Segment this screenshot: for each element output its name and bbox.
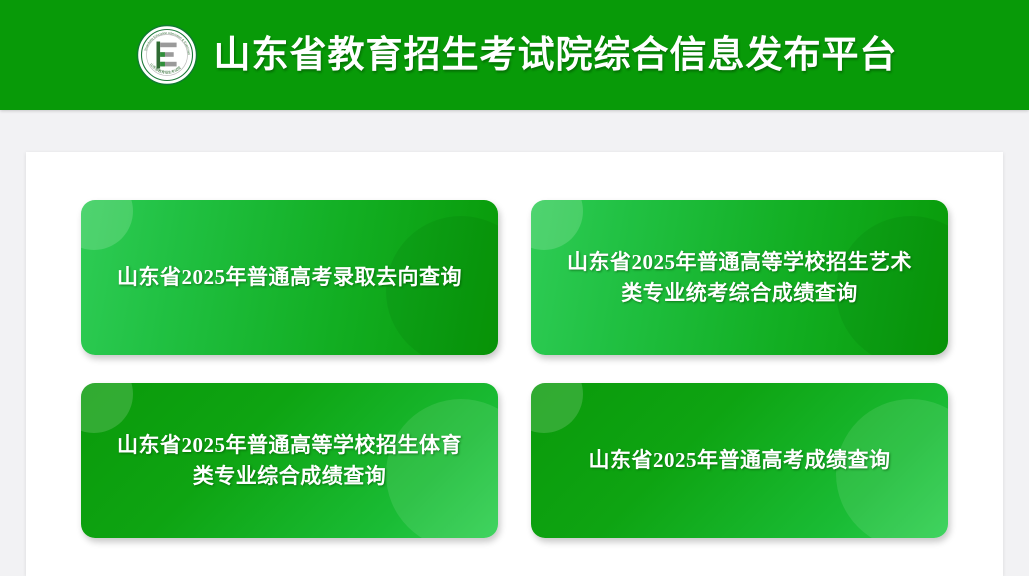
page-title: 山东省教育招生考试院综合信息发布平台 bbox=[214, 37, 898, 74]
service-card-grid: 山东省2025年普通高考录取去向查询 山东省2025年普通高等学校招生艺术类专业… bbox=[81, 200, 948, 538]
header-inner: Shandong Education Admission & Examinati… bbox=[136, 24, 898, 86]
decorative-circle-top-left-icon bbox=[81, 200, 133, 250]
card-yishulei-tongkao-chengji[interactable]: 山东省2025年普通高等学校招生艺术类专业统考综合成绩查询 bbox=[531, 200, 948, 355]
site-header: Shandong Education Admission & Examinati… bbox=[0, 0, 1029, 110]
card-label: 山东省2025年普通高等学校招生体育类专业综合成绩查询 bbox=[110, 430, 470, 492]
card-gaokao-chengji[interactable]: 山东省2025年普通高考成绩查询 bbox=[531, 383, 948, 538]
decorative-circle-top-left-icon bbox=[531, 383, 583, 433]
card-label: 山东省2025年普通高等学校招生艺术类专业统考综合成绩查询 bbox=[560, 247, 920, 309]
card-label: 山东省2025年普通高考录取去向查询 bbox=[117, 262, 462, 293]
card-label: 山东省2025年普通高考成绩查询 bbox=[589, 445, 891, 476]
page-body: 山东省2025年普通高考录取去向查询 山东省2025年普通高等学校招生艺术类专业… bbox=[0, 110, 1029, 576]
decorative-circle-top-left-icon bbox=[531, 200, 583, 250]
card-gaokao-luqu-quxiang[interactable]: 山东省2025年普通高考录取去向查询 bbox=[81, 200, 498, 355]
content-panel: 山东省2025年普通高考录取去向查询 山东省2025年普通高等学校招生艺术类专业… bbox=[26, 152, 1003, 576]
card-tiyulei-zonghe-chengji[interactable]: 山东省2025年普通高等学校招生体育类专业综合成绩查询 bbox=[81, 383, 498, 538]
institution-logo-icon: Shandong Education Admission & Examinati… bbox=[136, 24, 198, 86]
decorative-circle-top-left-icon bbox=[81, 383, 133, 433]
